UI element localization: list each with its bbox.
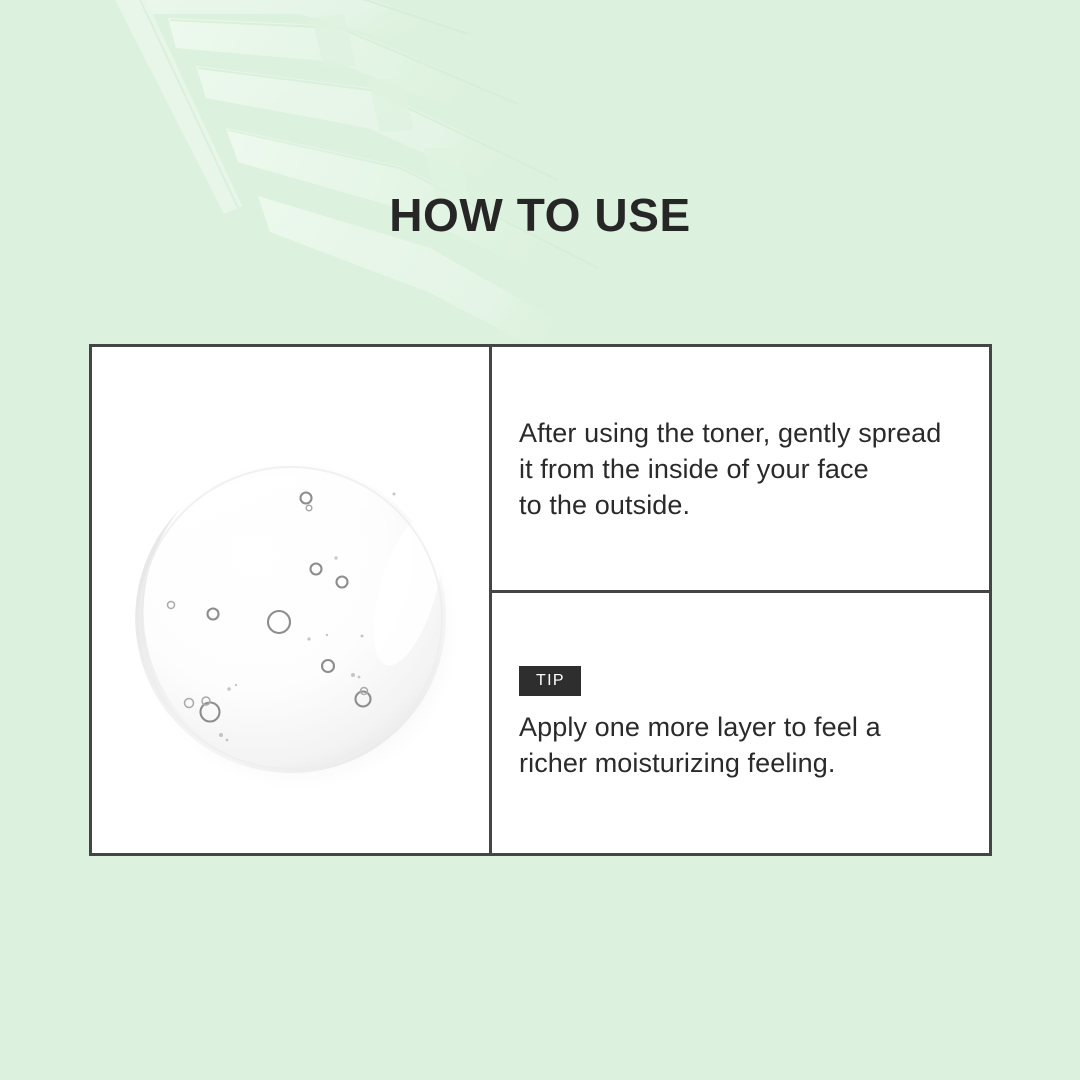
step-line: After using the toner, gently spread: [519, 415, 969, 451]
tip-badge: TIP: [519, 666, 581, 696]
instructions-column: After using the toner, gently spread it …: [492, 347, 989, 853]
tip-cell: TIP Apply one more layer to feel a riche…: [492, 593, 989, 853]
page-title: HOW TO USE: [0, 188, 1080, 242]
how-to-use-card: After using the toner, gently spread it …: [89, 344, 992, 856]
gel-image-cell: [92, 347, 492, 853]
step-instruction-cell: After using the toner, gently spread it …: [492, 347, 989, 593]
tip-text: Apply one more layer to feel a richer mo…: [519, 709, 969, 781]
step-line: to the outside.: [519, 487, 969, 523]
how-to-use-page: HOW TO USE: [0, 0, 1080, 1080]
tip-line: richer moisturizing feeling.: [519, 745, 969, 781]
step-line: it from the inside of your face: [519, 451, 969, 487]
tip-line: Apply one more layer to feel a: [519, 709, 969, 745]
gel-drop-image: [123, 450, 463, 790]
step-instruction-text: After using the toner, gently spread it …: [519, 415, 969, 523]
